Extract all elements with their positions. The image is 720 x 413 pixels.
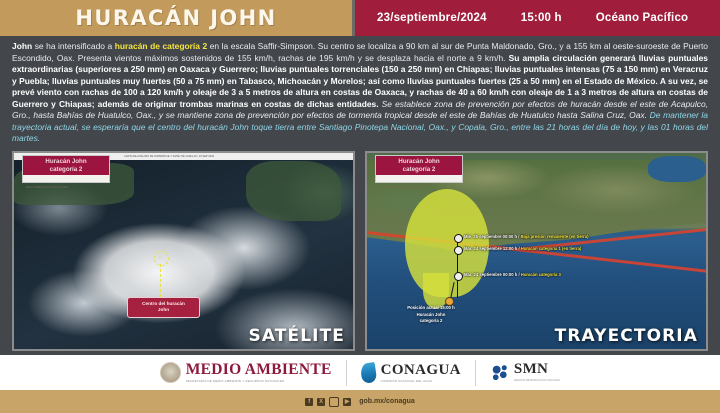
track-point-time: Mar. 24 septiembre 00:00 h / [464,272,521,277]
header-date: 23/septiembre/2024 [377,12,487,24]
satellite-panel-tag: SATÉLITE [249,326,345,346]
track-point-label: Mar. 24 septiembre 00:00 h / Huracán cat… [464,272,561,277]
callout-leader-line [160,264,161,297]
track-point-status: Baja presión remanente (en tierra) [521,234,589,239]
advisory-category-highlight: huracán de categoría 2 [115,41,207,51]
badge-line-1: Huracán John [23,158,109,166]
header-meta-area: 23/septiembre/2024 15:00 h Océano Pacífi… [355,0,720,36]
hurricane-eye-ring-icon [154,251,169,266]
callout-line-2: John [130,307,197,314]
gulf-water-area [648,156,706,182]
panels-row: CARTA DE ANÁLISIS DE SUPERFICIE Y SATÉLI… [0,147,720,351]
page-title: HURACÁN JOHN [75,6,276,30]
trajectory-panel[interactable]: Mié. 25 septiembre 00:00 h / Baja presió… [365,151,708,351]
advisory-seg-1: se ha intensificado a [32,41,115,51]
trajectory-panel-tag: TRAYECTORIA [555,326,698,346]
x-twitter-icon[interactable]: X [317,398,325,406]
infographic-page: HURACÁN JOHN 23/septiembre/2024 15:00 h … [0,0,720,413]
track-point-marker[interactable] [454,246,463,255]
badge-line-2: categoría 2 [376,166,462,174]
header-bar: HURACÁN JOHN 23/septiembre/2024 15:00 h … [0,0,720,36]
current-position-line-3: categoría 2 [385,318,477,325]
badge-logo-strip-label: MEDIO AMBIENTE | CONAGUA | SMN [376,184,421,191]
track-point-label: Mié. 25 septiembre 00:00 h / Baja presió… [464,234,589,239]
badge-line-1: Huracán John [376,158,462,166]
hurricane-center-callout: Centro del huracán John [127,297,200,318]
current-position-line-1: Posición actual 15:00 h [385,305,477,312]
track-point-status: Huracán categoría 1 (en tierra) [521,246,582,251]
logo2-title: CONAGUA [381,363,461,378]
youtube-icon[interactable]: ▶ [343,398,351,406]
track-point-time: Mié. 25 septiembre 00:00 h / [464,234,521,239]
smn-spiral-icon [490,363,509,382]
footer-url[interactable]: gob.mx/conagua [359,398,415,405]
logo3-title: SMN [514,362,560,377]
instagram-icon[interactable]: ◎ [329,397,339,407]
logo1-subtitle: SECRETARÍA DE MEDIO AMBIENTE Y RECURSOS … [186,380,332,383]
mexican-eagle-seal-icon [160,362,181,383]
footer-logo-bar: MEDIO AMBIENTE SECRETARÍA DE MEDIO AMBIE… [0,355,720,390]
footer-divider [346,360,347,386]
track-point-marker[interactable] [454,234,463,243]
logo-medio-ambiente: MEDIO AMBIENTE SECRETARÍA DE MEDIO AMBIE… [160,362,332,383]
footer-social-bar: f X ◎ ▶ gob.mx/conagua [0,390,720,413]
logo1-title: MEDIO AMBIENTE [186,362,332,378]
badge-line-2: categoría 2 [23,166,109,174]
track-point-marker[interactable] [454,272,463,281]
header-basin: Océano Pacífico [596,12,688,24]
footer-divider [475,360,476,386]
header-title-area: HURACÁN JOHN [0,0,352,36]
trajectory-badge-logos: MEDIO AMBIENTE | CONAGUA | SMN [375,175,463,183]
satellite-panel[interactable]: CARTA DE ANÁLISIS DE SUPERFICIE Y SATÉLI… [12,151,355,351]
current-position-callout: Posición actual 15:00 h Huracán John cat… [385,305,477,325]
landmass-shape [246,161,341,221]
logo2-subtitle: COMISIÓN NACIONAL DEL AGUA [381,380,461,383]
track-point-status: Huracán categoría 3 [521,272,561,277]
advisory-storm-name: John [12,41,32,51]
track-point-time: Mar. 24 septiembre 12:00 h / [464,246,521,251]
water-drop-icon [359,362,377,384]
satellite-badge-logos: MEDIO AMBIENTE | CONAGUA | SMN [22,175,110,183]
logo-smn: SMN SERVICIO METEOROLÓGICO NACIONAL [490,362,560,382]
advisory-text: John se ha intensificado a huracán de ca… [0,36,720,147]
badge-logo-strip-label: MEDIO AMBIENTE | CONAGUA | SMN [23,184,68,191]
header-time: 15:00 h [521,12,562,24]
facebook-icon[interactable]: f [305,398,313,406]
track-point-label: Mar. 24 septiembre 12:00 h / Huracán cat… [464,246,581,251]
logo3-subtitle: SERVICIO METEOROLÓGICO NACIONAL [514,379,560,382]
logo-conagua: CONAGUA COMISIÓN NACIONAL DEL AGUA [361,363,461,383]
